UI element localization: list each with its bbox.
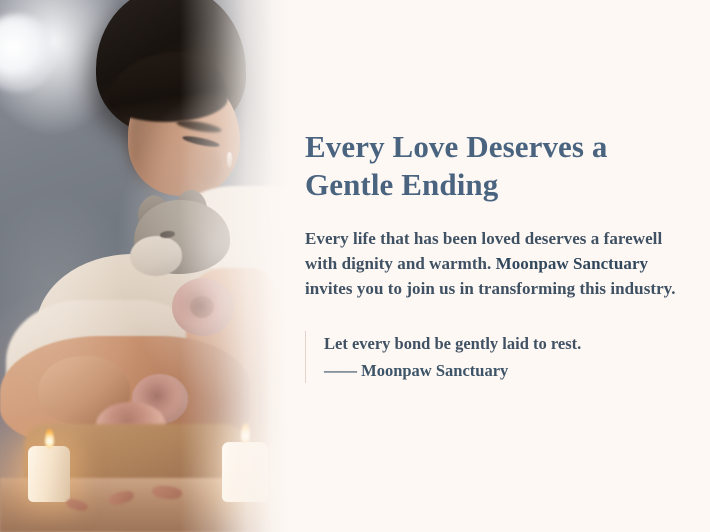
lede-paragraph: Every life that has been loved deserves … (305, 226, 687, 301)
text-panel: Every Love Deserves a Gentle Ending Ever… (290, 0, 710, 532)
rose-primary-core (190, 296, 214, 318)
hero-photo (0, 0, 290, 532)
cat-muzzle (130, 236, 182, 276)
content-block: Every Love Deserves a Gentle Ending Ever… (305, 128, 687, 383)
page-title: Every Love Deserves a Gentle Ending (305, 128, 687, 204)
candle-right (222, 442, 268, 502)
brand-name: Moonpaw Sanctuary (496, 254, 648, 273)
promotional-slide: Every Love Deserves a Gentle Ending Ever… (0, 0, 710, 532)
tear-drop (227, 152, 232, 168)
candle-left (28, 446, 70, 502)
lede-text-after-brand: invites you to join us in transforming t… (305, 279, 676, 298)
pullquote-attribution: —— Moonpaw Sanctuary (324, 358, 687, 383)
pullquote: Let every bond be gently laid to rest. —… (305, 331, 687, 383)
candle-left-flame-icon (45, 428, 54, 448)
pullquote-text: Let every bond be gently laid to rest. (324, 331, 687, 356)
candle-right-flame-icon (241, 422, 250, 443)
person-nose (196, 150, 222, 184)
